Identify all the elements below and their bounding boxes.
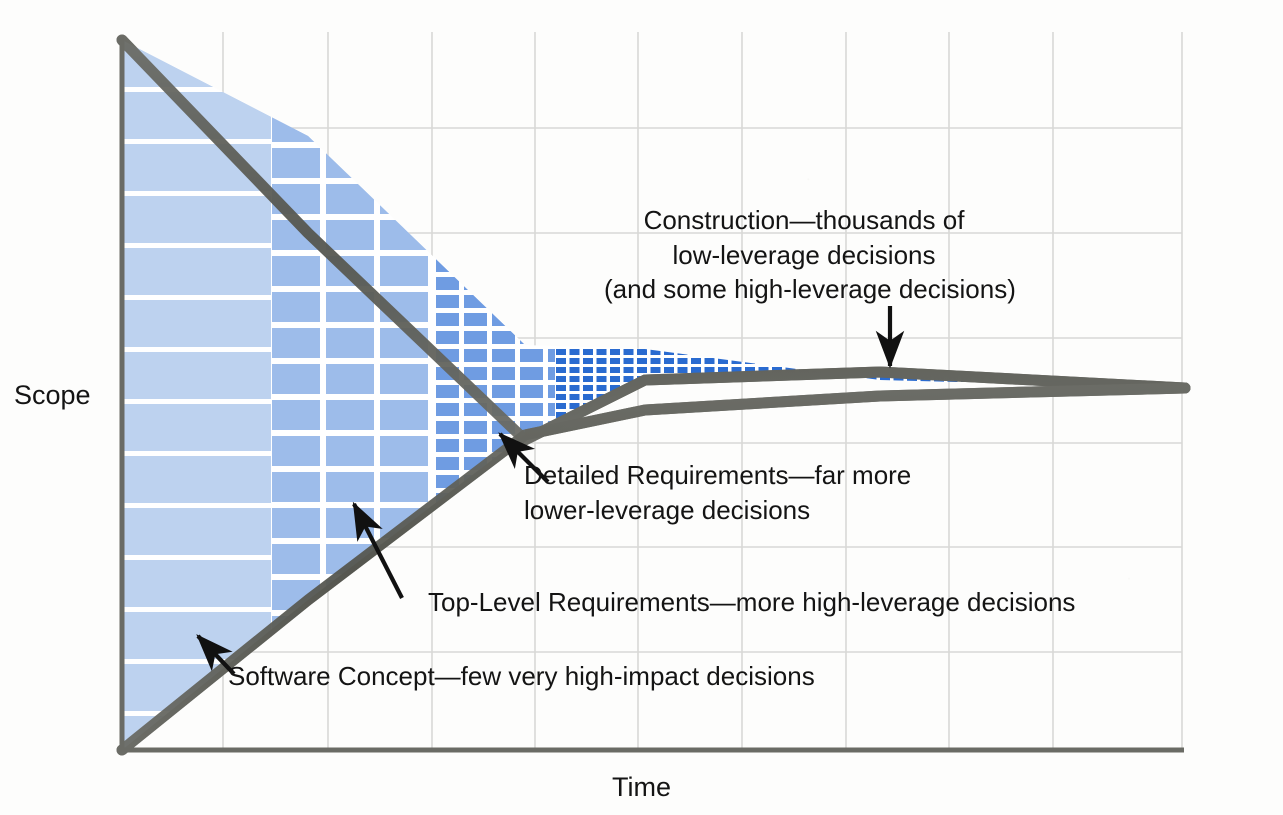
x-axis-label: Time	[0, 770, 1283, 805]
y-axis-label: Scope	[14, 378, 91, 413]
detailed-requirements-annotation-line-1: Detailed Requirements—far more	[524, 458, 911, 493]
detailed-requirements-annotation-line-2: lower-leverage decisions	[524, 493, 911, 528]
construction-annotation: Construction—thousands of low-leverage d…	[604, 203, 1004, 307]
construction-annotation-line-2: low-leverage decisions	[604, 238, 1004, 273]
construction-annotation-line-1: Construction—thousands of	[604, 203, 1004, 238]
scope-time-funnel-figure: Scope Time Construction—thousands of low…	[0, 0, 1283, 815]
top-level-requirements-annotation: Top-Level Requirements—more high-leverag…	[428, 586, 1075, 620]
detailed-requirements-annotation: Detailed Requirements—far more lower-lev…	[524, 458, 911, 527]
construction-annotation-line-3: (and some high-leverage decisions)	[604, 272, 1004, 307]
software-concept-annotation-line-1: Software Concept—few very high-impact de…	[228, 660, 815, 694]
software-concept-annotation: Software Concept—few very high-impact de…	[228, 660, 815, 694]
top-level-requirements-annotation-line-1: Top-Level Requirements—more high-leverag…	[428, 586, 1075, 620]
